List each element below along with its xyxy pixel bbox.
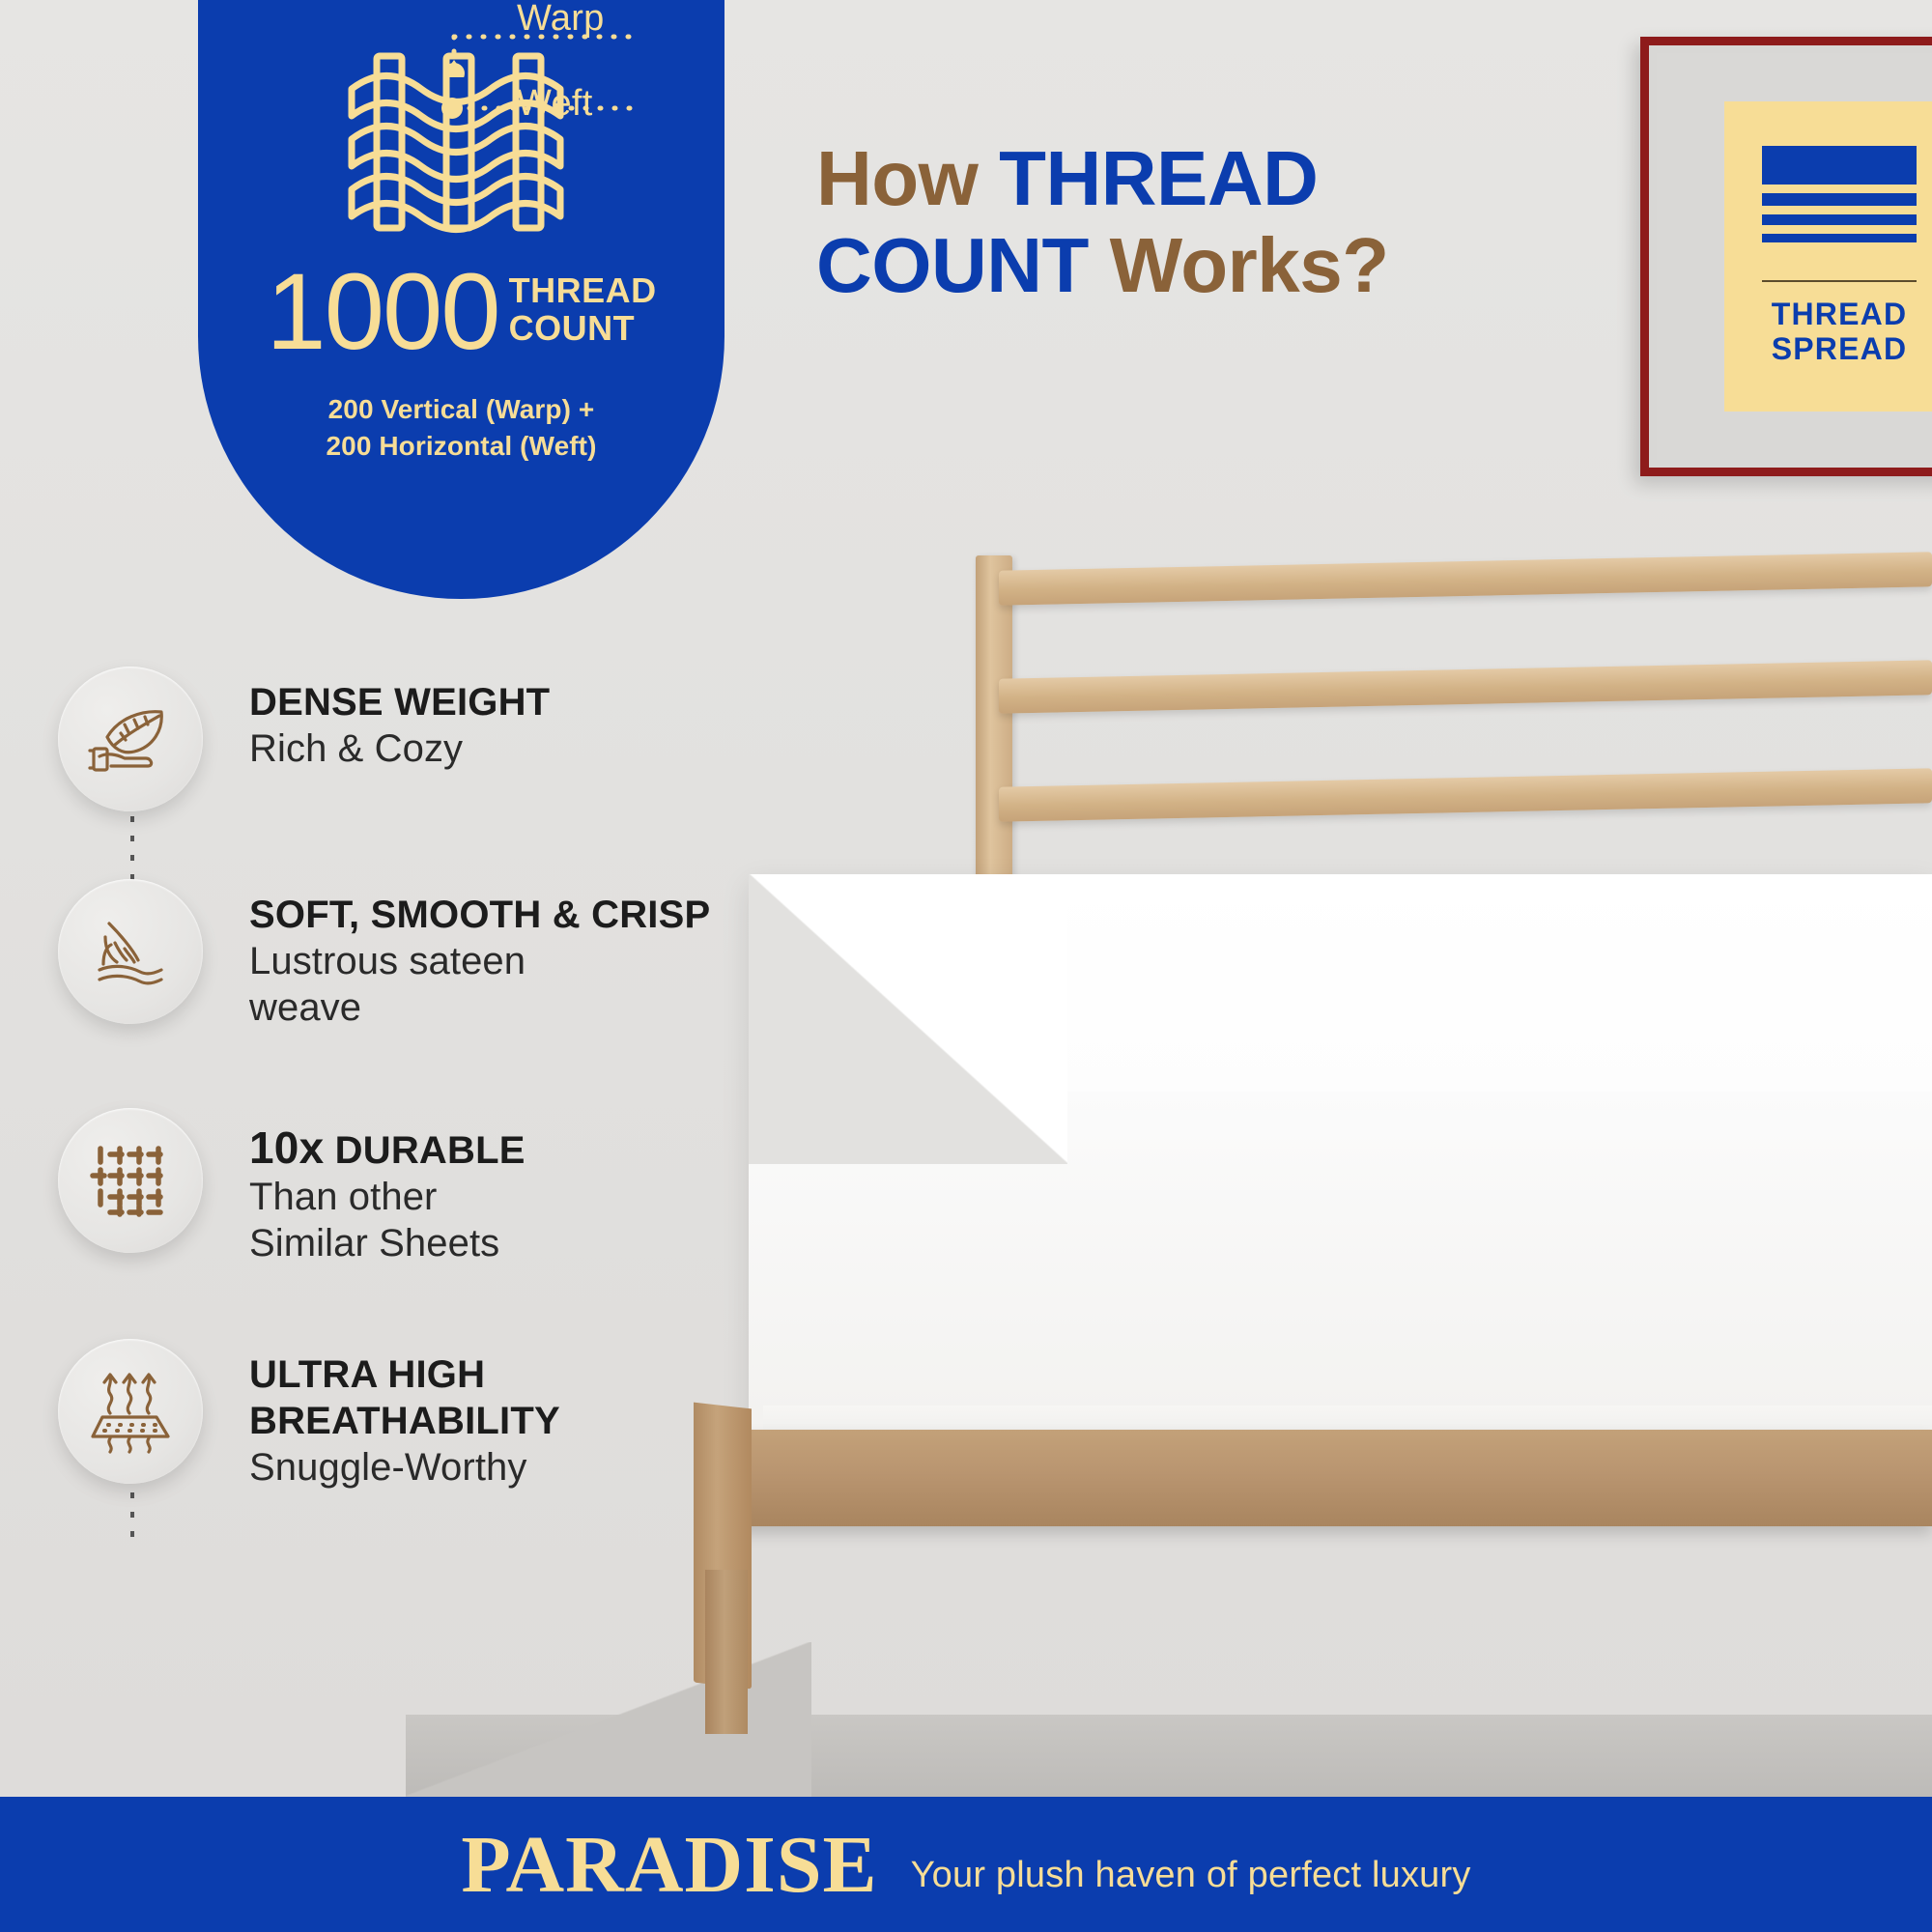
woven-threads-icon (348, 50, 575, 234)
feature-text: ULTRA HIGH BREATHABILITY Snuggle-Worthy (203, 1339, 560, 1490)
bed-leg (705, 1570, 748, 1734)
feature-text: 10x DURABLE Than other Similar Sheets (203, 1108, 526, 1266)
brand-line-1: THREAD (1772, 298, 1908, 332)
feature-subtitle: Than other Similar Sheets (249, 1174, 526, 1266)
thread-count-words: THREAD COUNT (509, 272, 657, 352)
headboard-slat (999, 768, 1932, 821)
list-item: ULTRA HIGH BREATHABILITY Snuggle-Worthy (58, 1339, 792, 1490)
infographic-canvas: Warp Weft (0, 0, 1932, 1932)
list-item: SOFT, SMOOTH & CRISP Lustrous sateen wea… (58, 879, 792, 1031)
hand-holding-feather-icon (58, 667, 203, 811)
list-item: 10x DURABLE Than other Similar Sheets (58, 1108, 792, 1266)
thread-count-breakdown: 200 Vertical (Warp) + 200 Horizontal (We… (198, 391, 724, 465)
feature-subtitle: Snuggle-Worthy (249, 1444, 560, 1491)
headboard-slat (999, 552, 1932, 605)
list-item: DENSE WEIGHT Rich & Cozy (58, 667, 792, 811)
logo-divider (1762, 280, 1917, 282)
feature-list: DENSE WEIGHT Rich & Cozy SOFT, SMOOTH & … (58, 667, 792, 1491)
headline-word-how: How (816, 135, 978, 221)
thread-count-badge: Warp Weft (198, 0, 724, 599)
count-word: COUNT (509, 310, 657, 348)
headline-word-count: COUNT (816, 222, 1089, 308)
hand-touching-fabric-icon (58, 879, 203, 1024)
brand-line-2: SPREAD (1772, 332, 1908, 367)
headline-word-thread: THREAD (999, 135, 1318, 221)
feature-subtitle: Lustrous sateen weave (249, 938, 710, 1031)
bed-side-rail (710, 1430, 1932, 1526)
logo-bars-icon (1762, 146, 1917, 251)
feature-subtitle: Rich & Cozy (249, 725, 550, 772)
page-title: How THREAD COUNT Works? (816, 135, 1531, 308)
brand-name: THREAD SPREAD (1772, 298, 1908, 367)
breakdown-line-2: 200 Horizontal (Weft) (198, 428, 724, 465)
mattress-corner-bevel (749, 874, 1067, 1164)
feature-title: 10x DURABLE (249, 1122, 526, 1174)
framed-brand-poster: THREAD SPREAD (1640, 37, 1932, 476)
bed-headboard (976, 555, 1932, 889)
footer-banner: PARADISE Your plush haven of perfect lux… (0, 1797, 1932, 1932)
feature-title-rest: DURABLE (324, 1129, 525, 1172)
woven-grid-icon (58, 1108, 203, 1253)
headline-word-works: Works? (1110, 222, 1389, 308)
feature-title: DENSE WEIGHT (249, 680, 550, 725)
thread-word: THREAD (509, 272, 657, 310)
breathability-arrows-icon (58, 1339, 203, 1484)
headboard-slat (999, 660, 1932, 713)
warp-label: Warp (517, 0, 605, 40)
thread-count-number: 1000 (266, 261, 498, 363)
collection-tagline: Your plush haven of perfect luxury (911, 1833, 1471, 1896)
feature-text: SOFT, SMOOTH & CRISP Lustrous sateen wea… (203, 879, 710, 1031)
thread-count-value-row: 1000 THREAD COUNT (198, 261, 724, 363)
collection-name: PARADISE (461, 1818, 877, 1912)
feature-text: DENSE WEIGHT Rich & Cozy (203, 667, 550, 772)
feature-title: ULTRA HIGH BREATHABILITY (249, 1352, 560, 1443)
headboard-post (976, 555, 1012, 889)
feature-title-prefix: 10x (249, 1122, 324, 1173)
breakdown-line-1: 200 Vertical (Warp) + (198, 391, 724, 428)
brand-logo-art: THREAD SPREAD (1724, 101, 1932, 412)
feature-title: SOFT, SMOOTH & CRISP (249, 893, 710, 938)
